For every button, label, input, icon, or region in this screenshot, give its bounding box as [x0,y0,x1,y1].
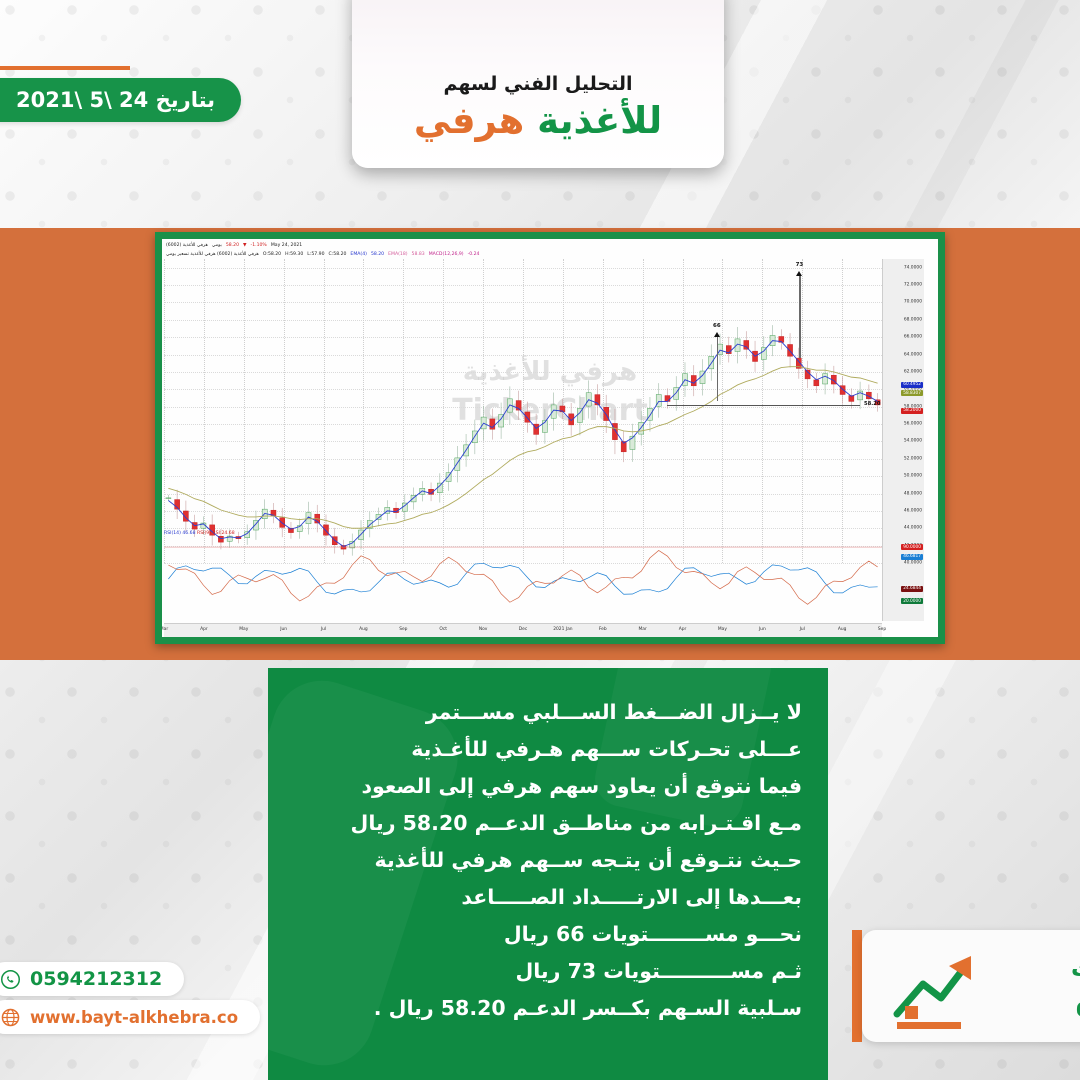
target-arrow-stem [717,337,718,401]
date-tick: Sep [878,627,886,632]
price-tick: 54.0000 [904,439,922,444]
target-label-73: 73 [796,262,804,268]
chart-change-pct: -1.10% [251,243,267,248]
price-tick: 56.0000 [904,422,922,427]
price-tick: 44.0000 [904,526,922,531]
rsi9-label: RSI(9) [197,531,211,536]
price-plot-area[interactable]: 667358.20 [164,259,882,563]
date-tick: Feb [599,627,607,632]
date-axis: MarAprMayJunJulAugSepOctNovDec2021 JanFe… [164,623,882,637]
analysis-panel: لا يــزال الضـــغط الســـلبي مســـتمرعــ… [268,668,828,1080]
price-badge: 58.8307 [901,390,923,396]
brand-logo[interactable]: بيت الخبرة [862,930,1080,1042]
ohlc-high: H:59.30 [285,252,303,257]
target-arrow-head [714,332,720,337]
title-subtitle: التحليل الفني لسهم [443,73,632,95]
chart-symbol: هرفي للأغذية (6002) [166,243,208,248]
ema-fast-value: 58.20 [371,252,384,257]
macd-value: -0.24 [468,252,480,257]
logo-word-main: الخبرة [1075,980,1080,1026]
title-company-suffix: للأغذية [537,99,662,142]
date-tick: Aug [838,627,847,632]
down-arrow-icon: ▼ [243,243,247,248]
date-tick: Mar [162,627,168,632]
rsi9-value: RSI:24.68 [212,531,234,536]
target-arrow-head [796,271,802,276]
price-tick: 40.0000 [904,561,922,566]
date-tick: Dec [519,627,528,632]
date-tick: 2021 Jan [553,627,572,632]
rsi-line [168,563,877,594]
analysis-line-9: سـلبية السـهم بكــسر الدعـم 58.20 ريال . [294,998,802,1019]
date-accent-rule [0,66,130,70]
date-badge: بتاريخ 24 \5 \2021 [0,78,241,122]
rsi-badge: 20.0000 [901,598,923,604]
price-tick: 74.0000 [904,265,922,270]
price-tick: 64.0000 [904,352,922,357]
rsi14-value: 46.68 [182,531,195,536]
candlestick-series [164,259,882,563]
ema-fast-label: EMA(4) [350,252,367,257]
website-contact[interactable]: www.bayt-alkhebra.co [0,1000,260,1034]
logo-word-top: بيت [1071,956,1080,982]
stock-chart[interactable]: هرفي للأغذية (6002) يومي 58.20 ▼ -1.10% … [162,239,938,637]
chart-frame: هرفي للأغذية (6002) يومي 58.20 ▼ -1.10% … [155,232,945,644]
date-tick: Jul [321,627,326,632]
price-tick: 66.0000 [904,335,922,340]
rsi-badge: 24.6844 [901,586,923,592]
analysis-line-6: بعـــدها إلى الارتـــــداد الصـــــاعد [294,887,802,908]
target-arrow-stem [799,276,800,358]
chart-timeframe: يومي [212,243,222,248]
price-tick: 62.0000 [904,369,922,374]
ema-slow-value: 58.83 [412,252,425,257]
chart-header-line1: هرفي للأغذية (6002) يومي 58.20 ▼ -1.10% … [166,241,882,250]
date-tick: May [239,627,248,632]
whatsapp-number: 0594212312 [30,968,162,990]
rsi-badge: 46.6817 [901,554,923,560]
chart-header: هرفي للأغذية (6002) يومي 58.20 ▼ -1.10% … [166,241,882,259]
rsi-plot-area[interactable] [164,537,882,621]
price-axis: 74.000072.000070.000068.000066.000064.00… [882,259,924,621]
logo-accent-bar [852,930,862,1042]
website-url: www.bayt-alkhebra.co [30,1008,238,1027]
date-tick: Oct [439,627,447,632]
price-tick: 46.0000 [904,508,922,513]
price-tick: 48.0000 [904,491,922,496]
target-label-66: 66 [713,323,721,329]
title-company-name: هرفي [414,99,524,142]
chart-date: May 24, 2021 [271,243,302,248]
macd-label: MACD(12,26,9) [429,252,464,257]
date-tick: Jul [800,627,805,632]
chart-last-price: 58.20 [226,243,239,248]
rsi-series [164,537,882,621]
rsi-badge: 90.0000 [901,544,923,550]
globe-icon [0,1007,21,1028]
price-tick: 72.0000 [904,283,922,288]
chart-header-line2: هرفي للأغذية (6002) هرفي للأغذية تسعير ي… [166,250,882,259]
support-label: 58.20 [864,401,880,407]
ema-slow-label: EMA(18) [388,252,407,257]
analysis-line-2: عـــلى تحـركات ســـهم هـرفي للأغـذية [294,739,802,760]
ohlc-low: L:57.90 [307,252,324,257]
rsi-line [168,550,877,604]
chart-series-name: هرفي للأغذية (6002) هرفي للأغذية تسعير ي… [166,252,259,257]
date-tick: Aug [359,627,368,632]
date-tick: Apr [200,627,208,632]
whatsapp-contact[interactable]: 0594212312 [0,962,184,996]
ohlc-open: O:58.20 [263,252,281,257]
whatsapp-icon [0,969,21,990]
analysis-line-3: فيما نتوقع أن يعاود سهم هرفي إلى الصعود [294,776,802,797]
ema-line [168,367,877,529]
title-card: التحليل الفني لسهم للأغذية هرفي [352,0,724,168]
support-line [667,405,861,406]
analysis-line-7: نحـــو مســــــــتويات 66 ريال [294,924,802,945]
ohlc-close: C:58.20 [329,252,347,257]
analysis-text: لا يــزال الضـــغط الســـلبي مســـتمرعــ… [268,668,828,1019]
date-tick: Jun [759,627,766,632]
price-tick: 68.0000 [904,317,922,322]
rsi14-label: RSI(14) [164,531,181,536]
price-tick: 50.0000 [904,474,922,479]
price-badge: 60.4952 [901,382,923,388]
logo-graphic: بيت الخبرة [875,940,1080,1032]
date-tick: Nov [479,627,488,632]
date-tick: Apr [679,627,687,632]
analysis-line-4: مـع اقـتـرابه من مناطــق الدعــم 58.20 ر… [294,813,802,834]
price-badge: 58.2000 [901,408,923,414]
date-tick: Jun [280,627,287,632]
logo-arrow-icon [897,956,971,1029]
analysis-line-5: حـيث نتـوقع أن يتـجه ســهم هرفي للأغذية [294,850,802,871]
price-tick: 52.0000 [904,456,922,461]
date-tick: Sep [399,627,407,632]
date-tick: Mar [639,627,647,632]
analysis-line-8: ثـم مســــــــــتويات 73 ريال [294,961,802,982]
analysis-line-1: لا يــزال الضـــغط الســـلبي مســـتمر [294,702,802,723]
price-tick: 70.0000 [904,300,922,305]
date-tick: May [718,627,727,632]
page-title: للأغذية هرفي [414,99,662,142]
